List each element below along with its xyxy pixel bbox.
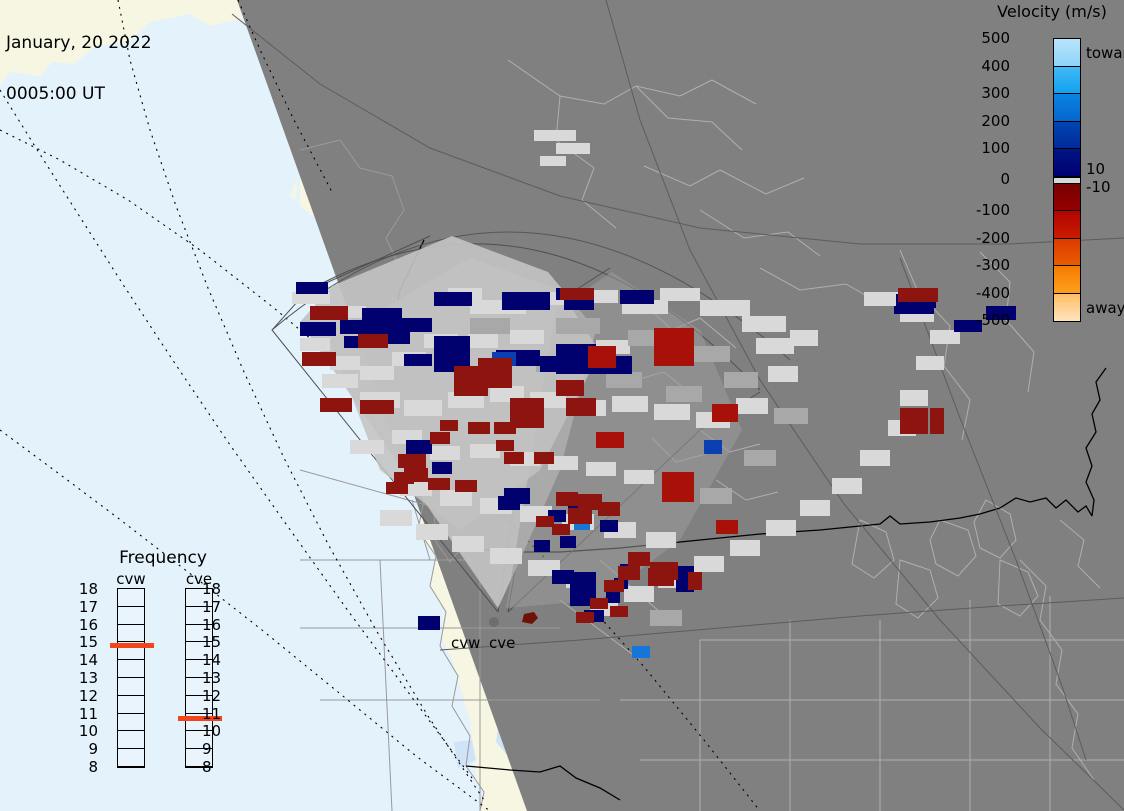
frequency-cell: [118, 589, 144, 607]
frequency-tick-17: 17: [202, 600, 226, 614]
timestamp-time: 0005:00 UT: [6, 86, 152, 103]
colorbar-negative-threshold: -10: [1086, 180, 1111, 195]
frequency-tick-12: 12: [202, 689, 226, 703]
frequency-marker-cvw: [110, 643, 154, 648]
colorbar-away-label: away: [1086, 301, 1124, 316]
frequency-tick-14: 14: [202, 653, 226, 667]
colorbar-segment-0: [1054, 39, 1080, 67]
frequency-cell: [118, 696, 144, 714]
frequency-tick-9: 9: [74, 742, 98, 756]
cve-site-marker: [522, 612, 538, 624]
colorbar-segment-2: [1054, 94, 1080, 122]
frequency-cell: [118, 607, 144, 625]
frequency-tick-14: 14: [74, 653, 98, 667]
frequency-tick-10: 10: [74, 724, 98, 738]
frequency-panel: Frequency cvw cve 18171615141312111098 1…: [88, 548, 238, 788]
timestamp-date: January, 20 2022: [6, 35, 152, 52]
colorbar-segment-6: [1054, 184, 1080, 212]
colorbar-gradient[interactable]: [1053, 38, 1081, 322]
colorbar-segment-5: [1054, 177, 1080, 184]
colorbar-tick-300: 300: [981, 86, 1010, 101]
frequency-tick-16: 16: [202, 618, 226, 632]
frequency-tick-18: 18: [202, 582, 226, 596]
velocity-colorbar-panel: Velocity (m/s) 5004003002001000-100-200-…: [972, 0, 1124, 340]
colorbar-segment-7: [1054, 211, 1080, 239]
frequency-cell: [118, 749, 144, 767]
colorbar-segment-3: [1054, 122, 1080, 150]
frequency-tick-11: 11: [74, 707, 98, 721]
colorbar-tick--400: -400: [976, 286, 1010, 301]
frequency-cell: [118, 714, 144, 732]
frequency-cell: [118, 678, 144, 696]
frequency-tick-15: 15: [202, 635, 226, 649]
colorbar-segment-1: [1054, 67, 1080, 95]
frequency-cell: [118, 731, 144, 749]
colorbar-title: Velocity (m/s): [982, 2, 1122, 21]
frequency-tick-9: 9: [202, 742, 226, 756]
colorbar-tick--500: -500: [976, 313, 1010, 328]
frequency-tick-10: 10: [202, 724, 226, 738]
colorbar-segment-8: [1054, 239, 1080, 267]
colorbar-tick--100: -100: [976, 203, 1010, 218]
frequency-cell: [118, 625, 144, 643]
colorbar-tick--200: -200: [976, 231, 1010, 246]
colorbar-positive-threshold: 10: [1086, 162, 1105, 177]
colorbar-toward-label: toward: [1086, 46, 1124, 61]
colorbar-segment-10: [1054, 294, 1080, 322]
frequency-title: Frequency: [88, 548, 238, 568]
colorbar-tick-500: 500: [981, 31, 1010, 46]
frequency-column-cvw: cvw: [104, 570, 158, 768]
colorbar-tick-0: 0: [1000, 172, 1010, 187]
frequency-tick-13: 13: [74, 671, 98, 685]
site-label-cvw: cvw: [451, 634, 480, 652]
colorbar-segment-9: [1054, 266, 1080, 294]
colorbar-tick-400: 400: [981, 59, 1010, 74]
site-label-cve: cve: [489, 634, 515, 652]
frequency-tick-12: 12: [74, 689, 98, 703]
frequency-label-cvw: cvw: [104, 570, 158, 588]
colorbar-tick-200: 200: [981, 114, 1010, 129]
frequency-tick-13: 13: [202, 671, 226, 685]
frequency-tick-17: 17: [74, 600, 98, 614]
colorbar-tick-100: 100: [981, 141, 1010, 156]
frequency-bar-cvw[interactable]: [117, 588, 145, 768]
colorbar-segment-4: [1054, 149, 1080, 177]
frequency-tick-8: 8: [74, 760, 98, 774]
frequency-tick-18: 18: [74, 582, 98, 596]
frequency-cell: [118, 660, 144, 678]
colorbar-tick--300: -300: [976, 258, 1010, 273]
frequency-tick-11: 11: [202, 707, 226, 721]
frequency-tick-8: 8: [202, 760, 226, 774]
superdarn-fan-plot: cvw cve January, 20 2022 0005:00 UT Velo…: [0, 0, 1124, 811]
cvw-site-marker: [489, 617, 499, 627]
frequency-tick-15: 15: [74, 635, 98, 649]
frequency-tick-16: 16: [74, 618, 98, 632]
timestamp-block: January, 20 2022 0005:00 UT: [6, 1, 152, 137]
